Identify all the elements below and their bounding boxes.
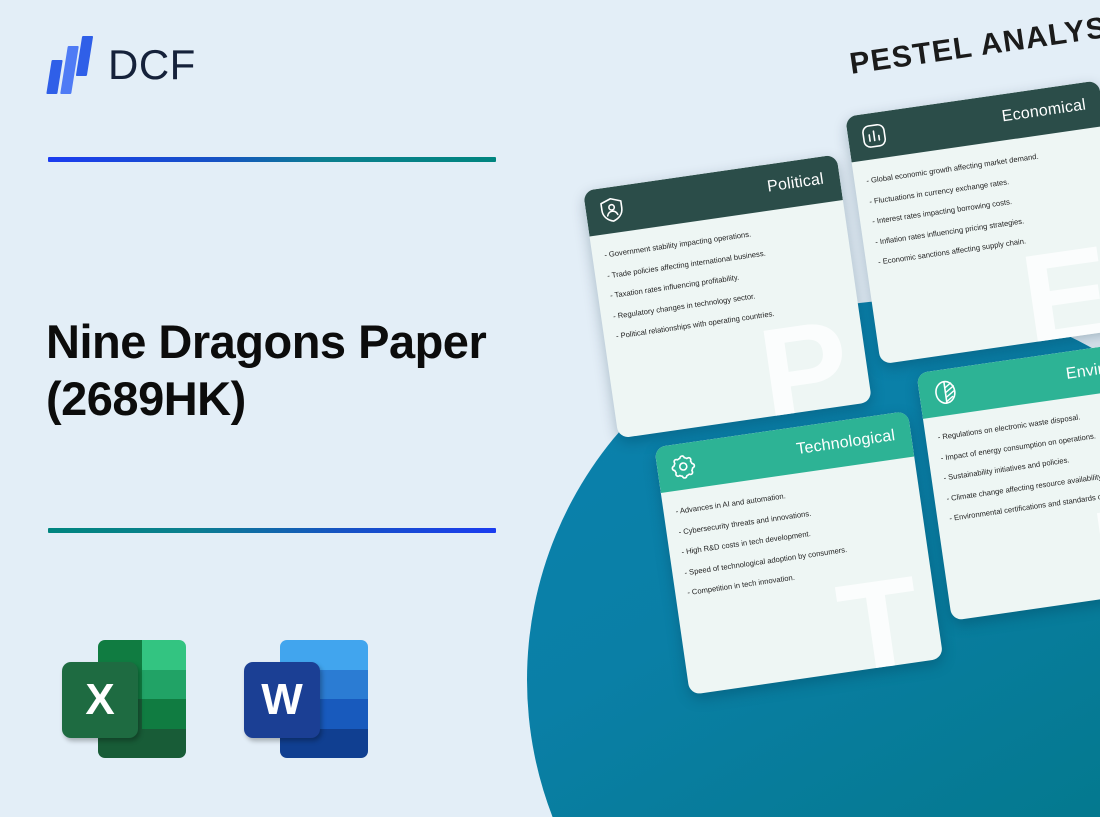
card-body-economical: E Global economic growth affecting marke… bbox=[852, 126, 1100, 364]
divider-bottom bbox=[48, 528, 496, 533]
card-body-political: P Government stability impacting operati… bbox=[590, 200, 872, 438]
card-title-political: Political bbox=[766, 171, 825, 197]
page-title: Nine Dragons Paper (2689HK) bbox=[46, 314, 516, 427]
watermark-political: P bbox=[752, 300, 858, 439]
word-letter: W bbox=[261, 678, 303, 722]
bar-chart-icon bbox=[858, 120, 890, 152]
watermark-economical: E bbox=[1014, 225, 1100, 364]
card-list-economical: Global economic growth affecting market … bbox=[866, 143, 1100, 267]
gear-icon bbox=[667, 451, 699, 483]
card-title-economical: Economical bbox=[1001, 96, 1087, 126]
list-item: Economic sanctions affecting supply chai… bbox=[878, 225, 1100, 267]
shield-person-icon bbox=[596, 194, 628, 226]
pestel-card-technological[interactable]: Technological T Advances in AI and autom… bbox=[654, 411, 943, 695]
excel-letter: X bbox=[85, 678, 114, 722]
pestel-title: PESTEL ANALYSIS bbox=[848, 7, 1100, 82]
word-letter-tile: W bbox=[244, 662, 320, 738]
card-title-environment: Environment bbox=[1065, 353, 1100, 384]
excel-letter-tile: X bbox=[62, 662, 138, 738]
pestel-card-political[interactable]: Political P Government stability impacti… bbox=[583, 154, 872, 438]
card-body-environment: E Regulations on electronic waste dispos… bbox=[923, 382, 1100, 620]
pestel-card-economical[interactable]: Economical E Global economic growth affe… bbox=[845, 80, 1100, 364]
page-root: DCF Nine Dragons Paper (2689HK) X bbox=[0, 0, 1100, 817]
pestel-cards: Political P Government stability impacti… bbox=[562, 83, 1100, 652]
pestel-card-environment[interactable]: Environment E Regulations on electronic … bbox=[916, 337, 1100, 621]
three-bars-logo-icon bbox=[48, 36, 94, 94]
leaf-icon bbox=[930, 377, 962, 409]
divider-top bbox=[48, 157, 496, 162]
card-list-political: Government stability impacting operation… bbox=[604, 218, 847, 342]
brand-logo-text: DCF bbox=[108, 41, 196, 89]
card-list-technological: Advances in AI and automation. Cybersecu… bbox=[675, 474, 918, 598]
excel-download-icon[interactable]: X bbox=[62, 640, 186, 758]
card-list-environment: Regulations on electronic waste disposal… bbox=[937, 400, 1100, 524]
brand-logo[interactable]: DCF bbox=[48, 36, 196, 94]
card-title-technological: Technological bbox=[795, 427, 896, 459]
card-body-technological: T Advances in AI and automation. Cyberse… bbox=[661, 456, 943, 694]
word-download-icon[interactable]: W bbox=[244, 640, 368, 758]
download-icons: X W bbox=[62, 640, 368, 758]
